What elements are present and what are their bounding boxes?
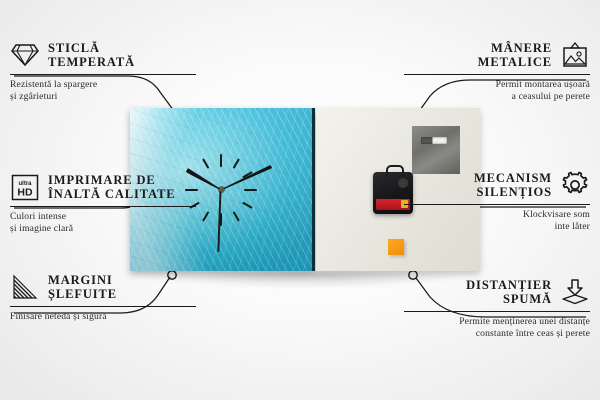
picture-frame-hanger-icon — [560, 40, 590, 70]
callout-title: MARGINIȘLEFUITE — [48, 273, 117, 301]
callout-description: Permite menținerea unei distanțeconstant… — [404, 316, 590, 339]
callout-rule — [404, 204, 590, 205]
infographic-canvas: STICLĂTEMPERATĂ Rezistentă la spargereși… — [0, 0, 600, 400]
callout-description: Klockvisare sominte låter — [404, 209, 590, 232]
callout-metal-handles: MÂNEREMETALICE Permit montarea ușoarăa c… — [404, 40, 590, 103]
callout-description: Finisare netedă și sigură — [10, 311, 196, 323]
callout-rule — [10, 306, 196, 307]
callout-header: MECANISMSILENȚIOS — [404, 170, 590, 200]
ultra-hd-icon: ultra HD — [10, 172, 40, 202]
foam-spacer-pad — [388, 239, 404, 255]
clock-front-view — [130, 108, 315, 271]
mechanism-hanging-loop — [386, 165, 404, 176]
callout-rule — [404, 74, 590, 75]
callout-description: Permit montarea ușoarăa ceasului pe pere… — [404, 79, 590, 102]
svg-text:HD: HD — [17, 186, 33, 198]
clock-center-pin — [219, 187, 224, 192]
callout-rule — [10, 74, 196, 75]
callout-title: MECANISMSILENȚIOS — [474, 171, 552, 199]
diamond-icon — [10, 40, 40, 70]
callout-polished-edges: MARGINIȘLEFUITE Finisare netedă și sigur… — [10, 272, 196, 323]
callout-rule — [404, 311, 590, 312]
callout-title: STICLĂTEMPERATĂ — [48, 41, 135, 69]
press-pad-icon — [560, 277, 590, 307]
callout-foam-spacer: DISTANȚIERSPUMĂ Permite menținerea unei … — [404, 277, 590, 340]
clock-face — [130, 108, 312, 271]
callout-header: DISTANȚIERSPUMĂ — [404, 277, 590, 307]
callout-description: Rezistentă la spargereși zgârieturi — [10, 79, 196, 102]
metal-hanger-plate — [412, 126, 460, 174]
callout-header: MARGINIȘLEFUITE — [10, 272, 196, 302]
callout-tempered-glass: STICLĂTEMPERATĂ Rezistentă la spargereși… — [10, 40, 196, 103]
callout-header: MÂNEREMETALICE — [404, 40, 590, 70]
hanger-slot — [421, 137, 447, 144]
callout-title: MÂNEREMETALICE — [478, 41, 552, 69]
polished-edge-icon — [10, 272, 40, 302]
callout-header: STICLĂTEMPERATĂ — [10, 40, 196, 70]
callout-title: DISTANȚIERSPUMĂ — [466, 278, 552, 306]
callout-silent-mechanism: MECANISMSILENȚIOS Klockvisare sominte lå… — [404, 170, 590, 233]
gear-icon — [560, 170, 590, 200]
